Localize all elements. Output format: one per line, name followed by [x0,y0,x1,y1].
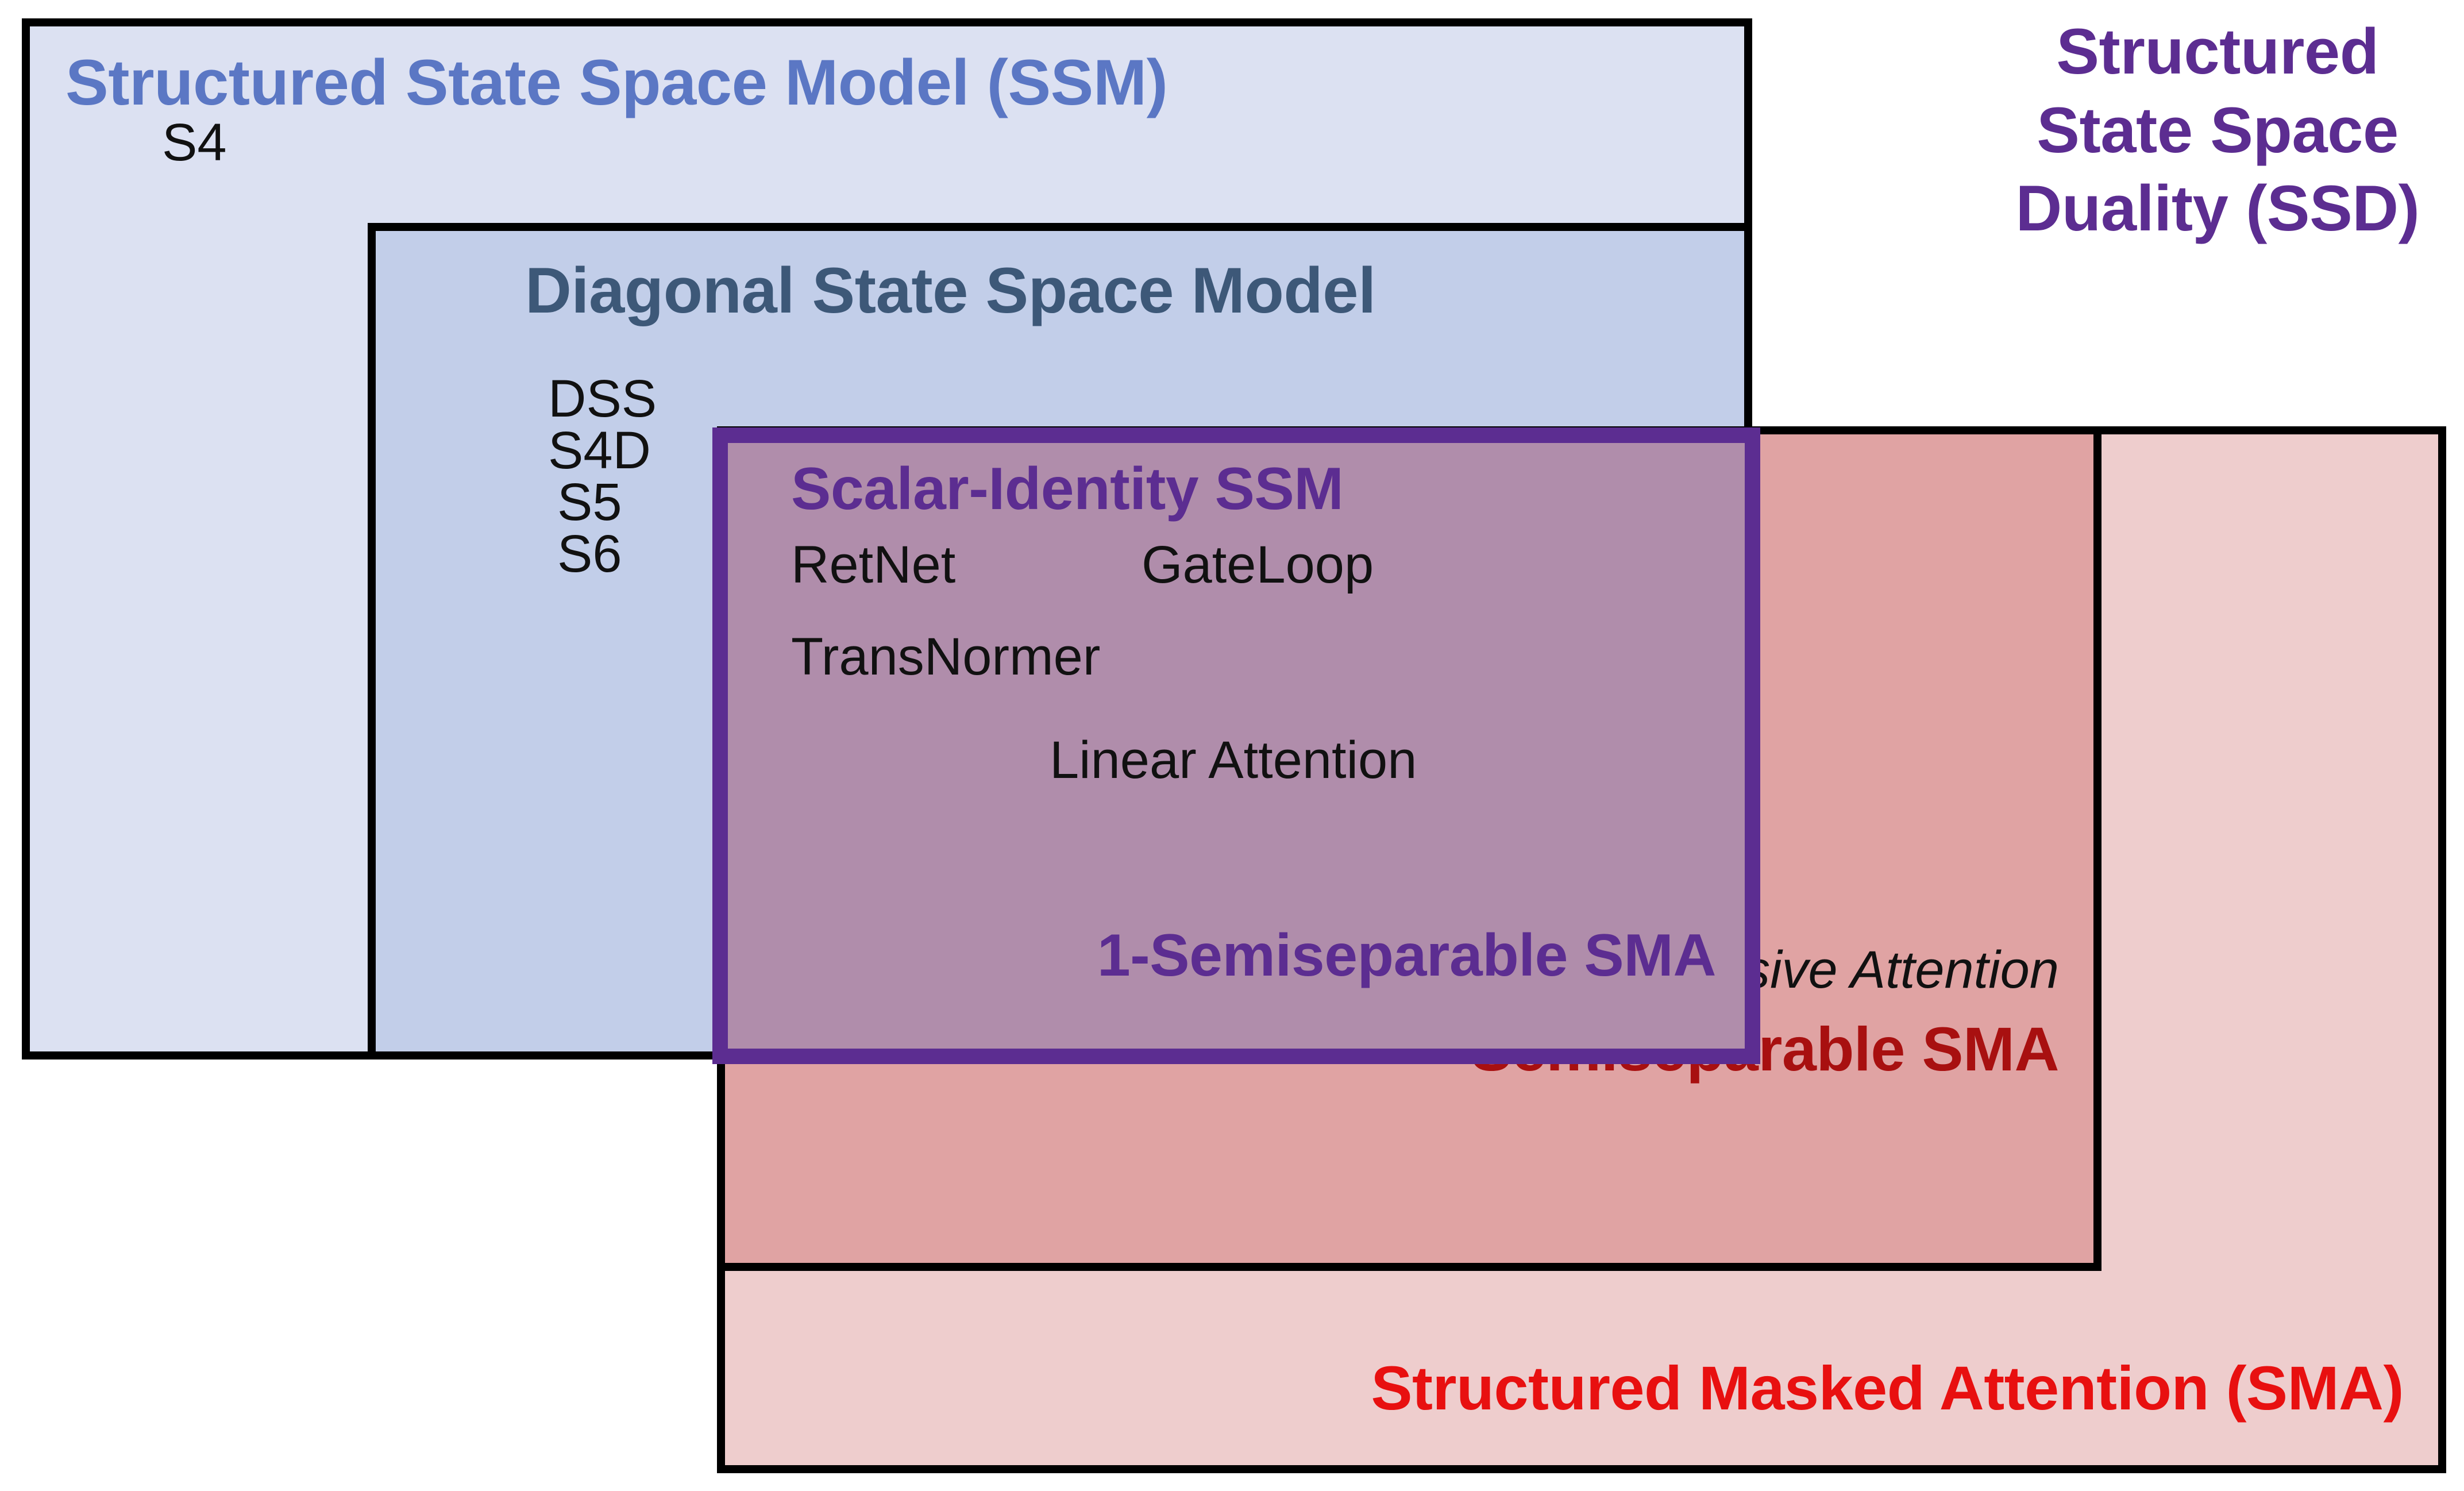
ssd-header-line-1: Structured [2005,13,2430,91]
ssd-header-line-2: State Space [2005,91,2430,170]
item-retnet: RetNet [791,535,955,595]
ssd-header-line-3: Duality (SSD) [2005,169,2430,248]
item-s4: S4 [162,113,227,173]
box-diagonal-title: Diagonal State Space Model [525,259,1376,323]
ssd-venn-diagram: Structured State Space Duality (SSD) Str… [0,0,2464,1491]
item-transnormer: TransNormer [791,627,1100,687]
item-s6: S6 [557,524,622,584]
item-gateloop: GateLoop [1142,535,1374,595]
box-1-semiseparable-sma-title: 1-Semiseparable SMA [1097,926,1716,985]
box-scalar-identity-ssm-title: Scalar-Identity SSM [791,459,1343,519]
box-ssm-title: Structured State Space Model (SSM) [65,51,1167,115]
box-scalar-identity-ssm: Scalar-Identity SSM RetNet GateLoop Tran… [712,427,1760,1064]
ssd-header-title: Structured State Space Duality (SSD) [2005,13,2430,248]
box-sma-title: Structured Masked Attention (SMA) [1371,1357,2404,1419]
item-linear-attention: Linear Attention [1050,730,1417,791]
